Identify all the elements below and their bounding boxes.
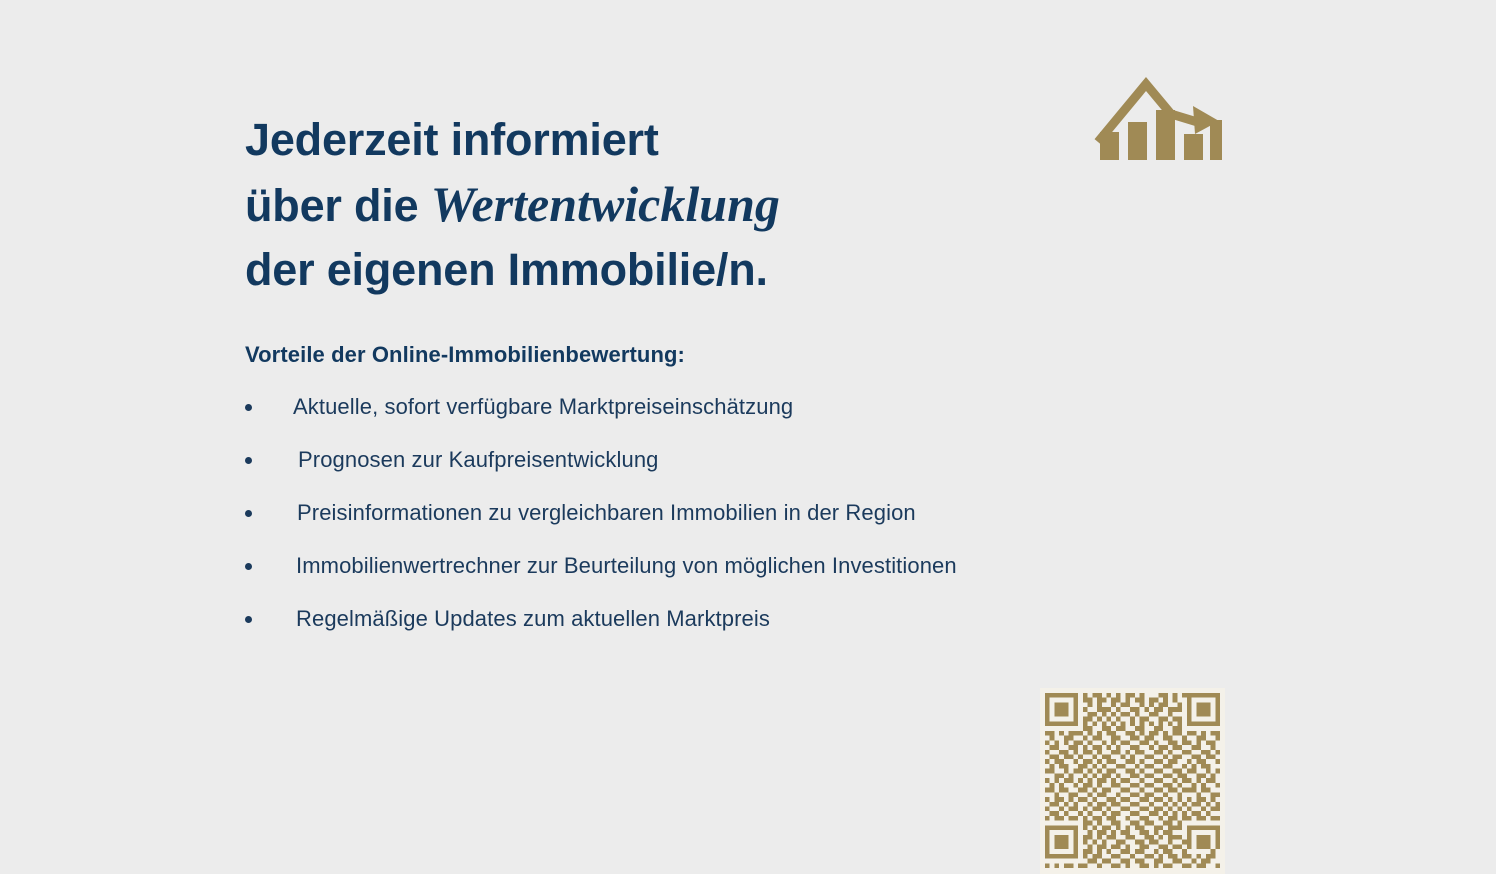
- bullet-dot-icon: [245, 616, 252, 623]
- bullet-dot-icon: [245, 510, 252, 517]
- list-item: Preisinformationen zu vergleichbaren Imm…: [245, 498, 1245, 551]
- list-item-label: Aktuelle, sofort verfügbare Marktpreisei…: [293, 392, 793, 422]
- list-item: Aktuelle, sofort verfügbare Marktpreisei…: [245, 392, 1245, 445]
- qr-code-matrix: [1045, 693, 1220, 868]
- list-item-label: Regelmäßige Updates zum aktuellen Marktp…: [296, 604, 770, 634]
- benefits-title: Vorteile der Online-Immobilienbewertung:: [245, 340, 1245, 370]
- list-item: Prognosen zur Kaufpreisentwicklung: [245, 445, 1245, 498]
- headline-emphasis: Wertentwicklung: [431, 176, 780, 232]
- list-item: Regelmäßige Updates zum aktuellen Marktp…: [245, 604, 1245, 657]
- page-title: Jederzeit informiert über die Wertentwic…: [245, 108, 965, 302]
- list-item-label: Prognosen zur Kaufpreisentwicklung: [298, 445, 659, 475]
- headline-line-2-prefix: über die: [245, 180, 431, 231]
- list-item-label: Immobilienwertrechner zur Beurteilung vo…: [296, 551, 957, 581]
- qr-code[interactable]: [1040, 688, 1225, 874]
- benefits-list: Aktuelle, sofort verfügbare Marktpreisei…: [245, 392, 1245, 657]
- headline-line-2: über die Wertentwicklung: [245, 172, 965, 238]
- slide-canvas: Jederzeit informiert über die Wertentwic…: [0, 0, 1496, 874]
- bullet-dot-icon: [245, 404, 252, 411]
- headline-line-3: der eigenen Immobilie/n.: [245, 238, 965, 302]
- bullet-dot-icon: [245, 457, 252, 464]
- benefits-section: Vorteile der Online-Immobilienbewertung:…: [245, 340, 1245, 657]
- bullet-dot-icon: [245, 563, 252, 570]
- growth-bar-chart-arrow-icon: [1092, 62, 1222, 160]
- list-item-label: Preisinformationen zu vergleichbaren Imm…: [297, 498, 916, 528]
- headline-line-1: Jederzeit informiert: [245, 108, 965, 172]
- list-item: Immobilienwertrechner zur Beurteilung vo…: [245, 551, 1245, 604]
